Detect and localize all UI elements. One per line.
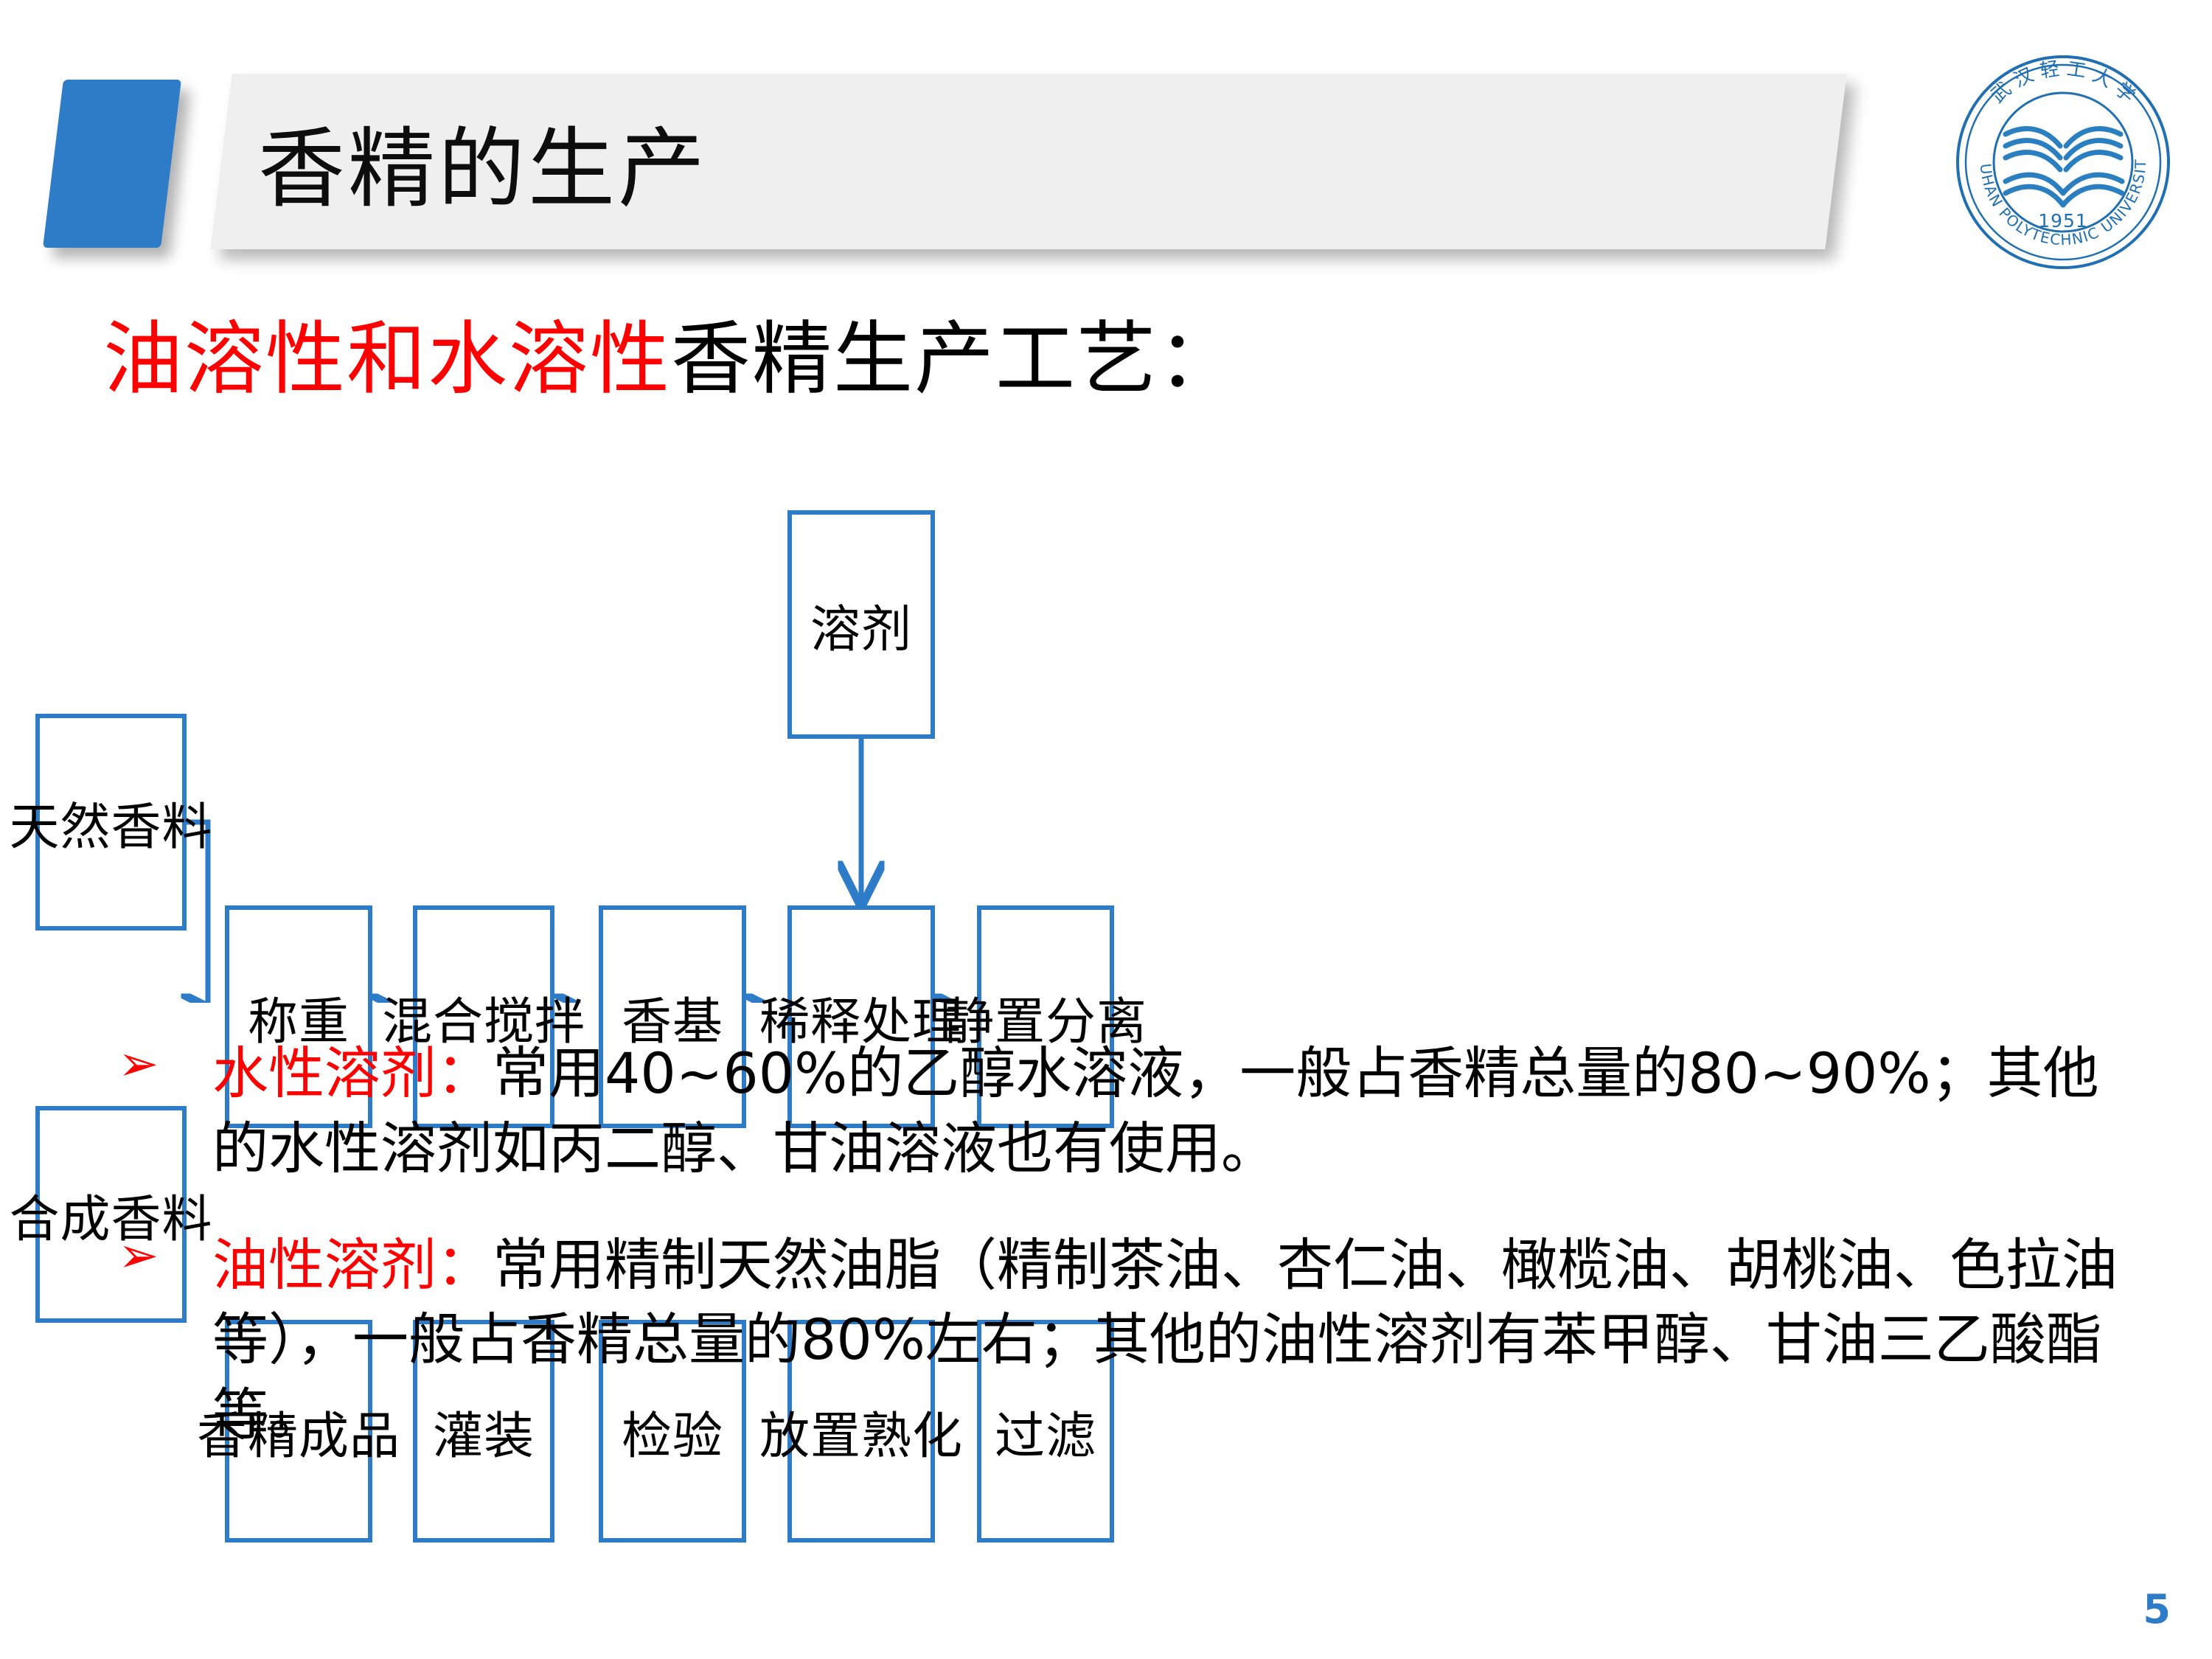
bullet-item-water-solvent: ➢ 水性溶剂：常用40~60%的乙醇水溶液，一般占香精总量的80~90%；其他的… [118, 1036, 2153, 1186]
bullet-body: 常用精制天然油脂（精制茶油、杏仁油、橄榄油、胡桃油、色拉油等），一般占香精总量的… [212, 1232, 2118, 1448]
svg-text:1951: 1951 [2038, 210, 2088, 232]
page-number: 5 [2143, 1586, 2171, 1632]
bullet-lead: 水性溶剂： [212, 1040, 493, 1106]
wuhan-polytechnic-university-logo: 1951 武 汉 轻 工 大 学 WUHAN POLYTECHNIC UNIVE… [1952, 52, 2174, 273]
svg-text:武 汉 轻 工 大 学: 武 汉 轻 工 大 学 [1987, 58, 2140, 108]
bullet-body: 常用40~60%的乙醇水溶液，一般占香精总量的80~90%；其他的水性溶剂如丙二… [212, 1040, 2099, 1181]
flow-node-n8: 溶剂 [787, 510, 935, 739]
section-heading: 油溶性和水溶性香精生产工艺： [103, 295, 1239, 410]
flow-node-n1: 天然香料 [35, 714, 187, 931]
bullet-marker-icon: ➢ [118, 1223, 159, 1288]
bullet-list: ➢ 水性溶剂：常用40~60%的乙醇水溶液，一般占香精总量的80~90%；其他的… [118, 1036, 2153, 1494]
bullet-text: 油性溶剂：常用精制天然油脂（精制茶油、杏仁油、橄榄油、胡桃油、色拉油等），一般占… [118, 1228, 2153, 1453]
page-title: 香精的生产 [258, 87, 1659, 234]
bullet-marker-icon: ➢ [118, 1032, 159, 1096]
bullet-text: 水性溶剂：常用40~60%的乙醇水溶液，一般占香精总量的80~90%；其他的水性… [118, 1036, 2153, 1186]
bullet-lead: 油性溶剂： [212, 1232, 493, 1298]
slide-root: 香精的生产 1951 [0, 0, 2212, 1659]
bullet-item-oil-solvent: ➢ 油性溶剂：常用精制天然油脂（精制茶油、杏仁油、橄榄油、胡桃油、色拉油等），一… [118, 1228, 2153, 1453]
title-accent-shape [43, 80, 181, 248]
process-flow-diagram: 天然香料合成香料称重混合搅拌香基稀释处理静置分离溶剂过滤放置熟化检验灌装香精成品 [0, 442, 2212, 1003]
heading-rest: 香精生产工艺： [671, 313, 1239, 406]
heading-highlight: 油溶性和水溶性 [103, 313, 671, 406]
